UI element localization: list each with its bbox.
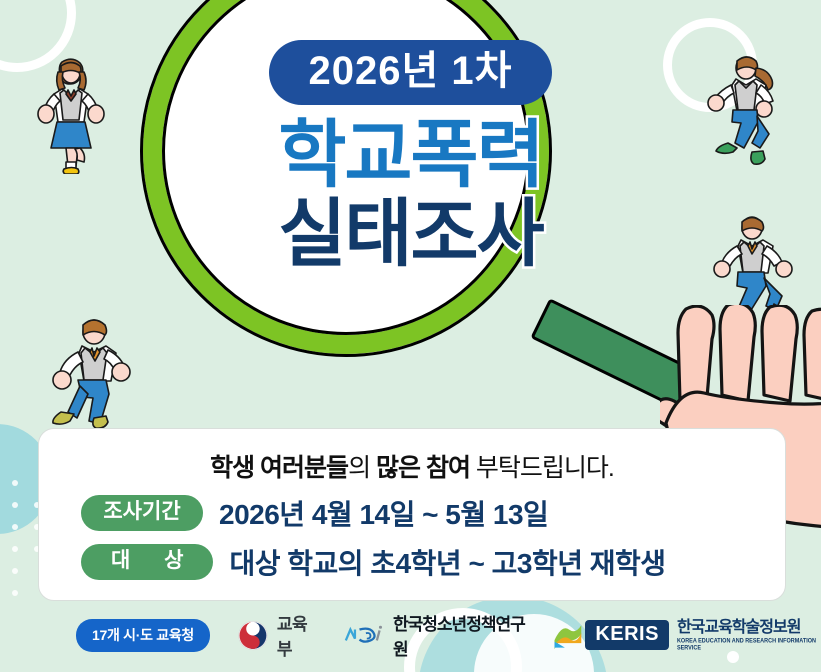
keris-name-kr: 한국교육학술정보원 <box>677 620 821 637</box>
magnifier-lens-icon <box>140 0 552 357</box>
footer-logos: 17개 시·도 교육청 교육부 한국청소년정책연구원 <box>0 610 821 660</box>
headline-thin-1: 의 <box>348 454 376 482</box>
info-card: 학생 여러분들의 많은 참여 부탁드립니다. 조사기간 2026년 4월 14일… <box>38 428 786 601</box>
taegeuk-icon <box>238 619 268 652</box>
label-survey-period: 조사기간 <box>81 495 203 531</box>
student-girl-cheering-illustration <box>28 52 114 174</box>
label-target: 대 상 <box>81 544 213 580</box>
value-target: 대상 학교의 초4학년 ~ 고3학년 재학생 <box>229 542 665 582</box>
keris-logo: KERIS 한국교육학술정보원 KOREA EDUCATION AND RESE… <box>553 620 821 650</box>
headline-bold-2: 많은 참여 <box>376 454 470 482</box>
row-survey-period: 조사기간 2026년 4월 14일 ~ 5월 13일 <box>81 493 785 533</box>
student-boy-running-left-illustration <box>28 300 144 432</box>
student-ponytail-running-illustration <box>690 48 796 166</box>
keris-mark-text: KERIS <box>585 620 669 650</box>
row-target: 대 상 대상 학교의 초4학년 ~ 고3학년 재학생 <box>81 542 785 582</box>
headline-bold-1: 학생 여러분들 <box>210 454 348 482</box>
ministry-of-education-logo: 교육부 <box>238 610 318 660</box>
moe-name: 교육부 <box>277 610 318 660</box>
poster-root: 2026년 1차 학교폭력 실태조사 학생 여러분들의 많은 참여 부탁드립니다… <box>0 0 821 672</box>
nypi-mark-icon <box>344 624 386 646</box>
keris-name-block: 한국교육학술정보원 KOREA EDUCATION AND RESEARCH I… <box>677 620 821 650</box>
nypi-logo: 한국청소년정책연구원 <box>344 610 527 660</box>
keris-mark-icon <box>553 621 583 649</box>
nypi-name: 한국청소년정책연구원 <box>393 610 527 660</box>
value-survey-period: 2026년 4월 14일 ~ 5월 13일 <box>219 493 548 533</box>
keris-name-en: KOREA EDUCATION AND RESEARCH INFORMATION… <box>677 638 821 652</box>
headline-thin-2: 부탁드립니다. <box>470 454 614 482</box>
card-headline: 학생 여러분들의 많은 참여 부탁드립니다. <box>39 448 785 484</box>
offices-pill: 17개 시·도 교육청 <box>76 619 210 652</box>
